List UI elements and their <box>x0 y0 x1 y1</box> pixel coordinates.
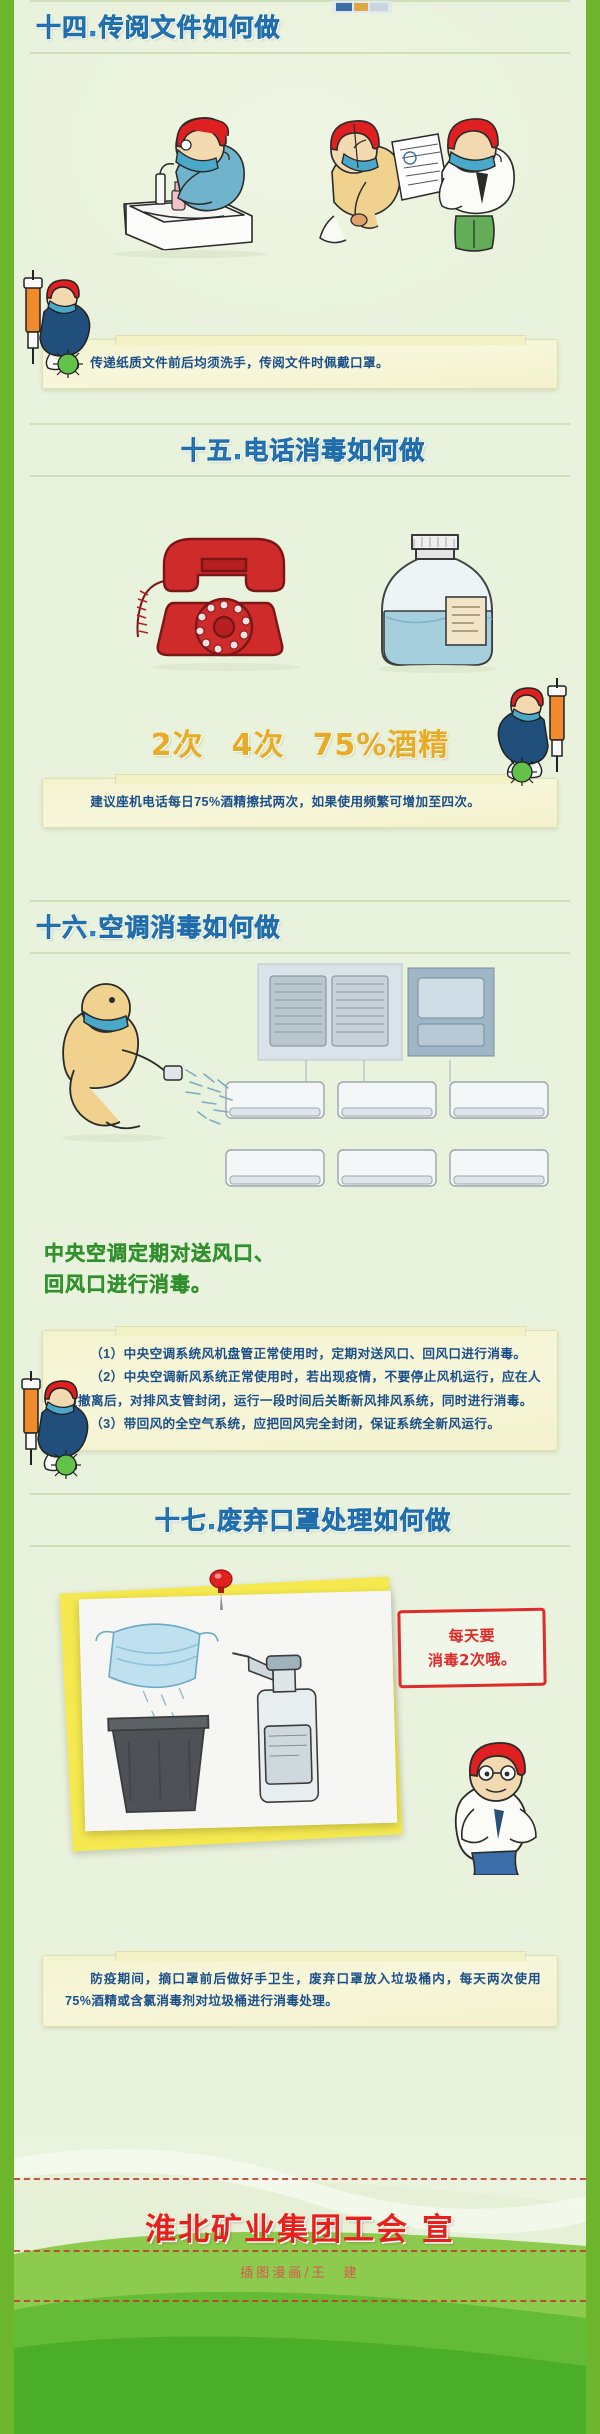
red-pushpin-icon <box>208 1569 234 1611</box>
section-16-list-item-2: （2）中央空调新风系统正常使用时，若出现疫情，不要停止风机运行，应在人员撤离后，… <box>65 1366 541 1413</box>
top-nub-decoration <box>332 0 392 12</box>
keyword-alcohol-75: 75%酒精 <box>312 720 449 764</box>
footer-credit: 插图漫画/王 建 <box>14 2262 586 2281</box>
section-15-note: 建议座机电话每日75%酒精擦拭两次，如果使用频繁可增加至四次。 <box>42 778 558 828</box>
section-17-speech-bubble: 每天要 消毒2次哦。 <box>397 1608 546 1689</box>
footer-dashed-line-middle <box>14 2250 586 2252</box>
section-14-illustration <box>14 54 586 269</box>
section-14-note: 传递纸质文件前后均须洗手，传阅文件时佩戴口罩。 <box>42 339 558 389</box>
speech-line-1: 每天要 <box>409 1623 535 1649</box>
section-15-heading: 十五.电话消毒如何做 <box>181 431 426 467</box>
section-17-heading: 十七.废弃口罩处理如何做 <box>155 1501 452 1537</box>
syringe-mascot-3 <box>18 1369 96 1479</box>
section-14-heading-bar: 十四.传阅文件如何做 <box>30 0 570 54</box>
handwriting-line-2: 回风口进行消毒。 <box>44 1269 586 1300</box>
section-17-photo-card: 每天要 消毒2次哦。 <box>58 1569 552 1869</box>
section-16-list-item-3: （3）带回风的全空气系统，应把回风完全封闭，保证系统全新风运行。 <box>65 1413 541 1436</box>
section-16-illustration <box>14 954 586 1234</box>
section-16-note: （1）中央空调系统风机盘管正常使用时，定期对送风口、回风口进行消毒。 （2）中央… <box>42 1330 558 1451</box>
handwriting-line-1: 中央空调定期对送风口、 <box>44 1238 586 1269</box>
speech-line-2: 消毒2次哦。 <box>409 1647 535 1673</box>
section-17: 十七.废弃口罩处理如何做 <box>14 1493 586 2027</box>
infographic-poster: 十四.传阅文件如何做 <box>0 0 600 2434</box>
section-16-heading: 十六.空调消毒如何做 <box>36 908 281 944</box>
section-16-handwriting: 中央空调定期对送风口、 回风口进行消毒。 <box>44 1238 586 1300</box>
keyword-twice: 2次 <box>151 720 204 764</box>
section-15: 十五.电话消毒如何做 <box>14 423 586 882</box>
syringe-mascot-2 <box>494 676 572 786</box>
section-17-note: 防疫期间，摘口罩前后做好手卫生，废弃口罩放入垃圾桶内，每天两次使用75%酒精或含… <box>42 1955 558 2027</box>
section-14: 十四.传阅文件如何做 <box>14 0 586 389</box>
section-16: 十六.空调消毒如何做 <box>14 900 586 1485</box>
section-15-note-text: 建议座机电话每日75%酒精擦拭两次，如果使用频繁可增加至四次。 <box>65 791 541 813</box>
photo-white-frame <box>79 1591 397 1832</box>
section-14-heading: 十四.传阅文件如何做 <box>36 8 281 44</box>
section-15-heading-bar: 十五.电话消毒如何做 <box>30 423 570 477</box>
poster-footer: 淮北矿业集团工会 宣 插图漫画/王 建 <box>14 2134 586 2434</box>
footer-dashed-line-top <box>14 2178 586 2180</box>
section-14-note-text: 传递纸质文件前后均须洗手，传阅文件时佩戴口罩。 <box>65 352 541 374</box>
section-15-illustration <box>14 477 586 702</box>
section-16-list-item-1: （1）中央空调系统风机盘管正常使用时，定期对送风口、回风口进行消毒。 <box>65 1343 541 1366</box>
section-17-heading-bar: 十七.废弃口罩处理如何做 <box>30 1493 570 1547</box>
doctor-character <box>438 1725 558 1875</box>
footer-organization: 淮北矿业集团工会 宣 <box>14 2204 586 2249</box>
section-17-note-text: 防疫期间，摘口罩前后做好手卫生，废弃口罩放入垃圾桶内，每天两次使用75%酒精或含… <box>65 1968 541 2012</box>
keyword-four-times: 4次 <box>232 720 285 764</box>
footer-dashed-line-bottom <box>14 2300 586 2302</box>
section-16-heading-bar: 十六.空调消毒如何做 <box>30 900 570 954</box>
syringe-mascot-1 <box>20 268 98 378</box>
